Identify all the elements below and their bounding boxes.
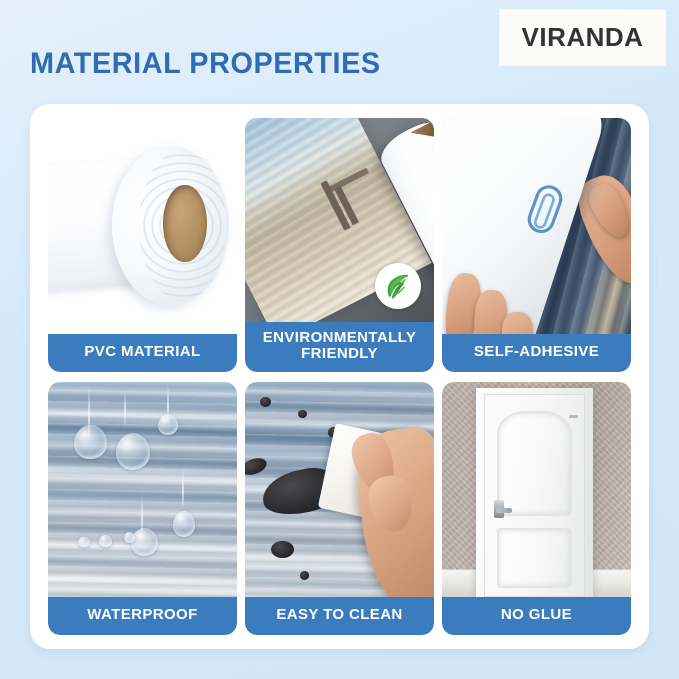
water-drop-4	[131, 528, 157, 556]
drop-trail-2	[124, 390, 126, 424]
water-drop-5	[173, 511, 196, 537]
eco-wallpaper-image	[245, 118, 434, 322]
feature-card-pvc-material[interactable]: PVC MATERIAL	[48, 118, 237, 372]
feature-label-environmentally-friendly: ENVIRONMENTALLY FRIENDLY	[245, 322, 434, 372]
door-image	[442, 382, 631, 598]
feature-card-waterproof[interactable]: WATERPROOF	[48, 382, 237, 636]
feature-label-line2: FRIENDLY	[301, 345, 378, 362]
brand-name: VIRANDA	[522, 22, 644, 53]
feature-label-no-glue: NO GLUE	[442, 597, 631, 635]
feature-panel: PVC MATERIAL	[30, 104, 649, 649]
feature-card-self-adhesive[interactable]: SELF-ADHESIVE	[442, 118, 631, 372]
waterproof-image	[48, 382, 237, 598]
feature-card-easy-to-clean[interactable]: EASY TO CLEAN	[245, 382, 434, 636]
feature-grid: PVC MATERIAL	[48, 118, 631, 635]
door-handle-bar	[496, 508, 512, 513]
self-adhesive-image	[442, 118, 631, 334]
water-drop-1	[74, 425, 106, 459]
stain-small-5	[300, 571, 309, 580]
pvc-roll-image	[48, 118, 237, 334]
pvc-roll-core	[163, 185, 206, 263]
feature-label-easy-to-clean: EASY TO CLEAN	[245, 597, 434, 635]
water-drop-6	[78, 537, 89, 548]
door-panel-bottom	[497, 528, 572, 588]
feature-label-self-adhesive: SELF-ADHESIVE	[442, 334, 631, 372]
door-hinge	[569, 415, 578, 418]
door-panel-top	[497, 411, 572, 515]
page-title: MATERIAL PROPERTIES	[30, 47, 381, 81]
brand-logo-box: VIRANDA	[500, 10, 665, 65]
door-slab	[484, 394, 585, 597]
infographic-page: VIRANDA MATERIAL PROPERTIES PVC MATERIAL	[0, 0, 679, 679]
easy-to-clean-image	[245, 382, 434, 598]
feature-card-no-glue[interactable]: NO GLUE	[442, 382, 631, 636]
water-drop-8	[124, 532, 135, 543]
door-frame	[476, 388, 593, 597]
leaf-icon	[375, 263, 421, 309]
feature-label-line1: ENVIRONMENTALLY	[263, 329, 417, 346]
drop-trail-4	[182, 468, 184, 507]
feature-card-environmentally-friendly[interactable]: ENVIRONMENTALLY FRIENDLY	[245, 118, 434, 372]
feature-label-waterproof: WATERPROOF	[48, 597, 237, 635]
water-drop-2	[116, 433, 150, 470]
feature-label-pvc-material: PVC MATERIAL	[48, 334, 237, 372]
wood-grain-texture	[48, 382, 237, 598]
